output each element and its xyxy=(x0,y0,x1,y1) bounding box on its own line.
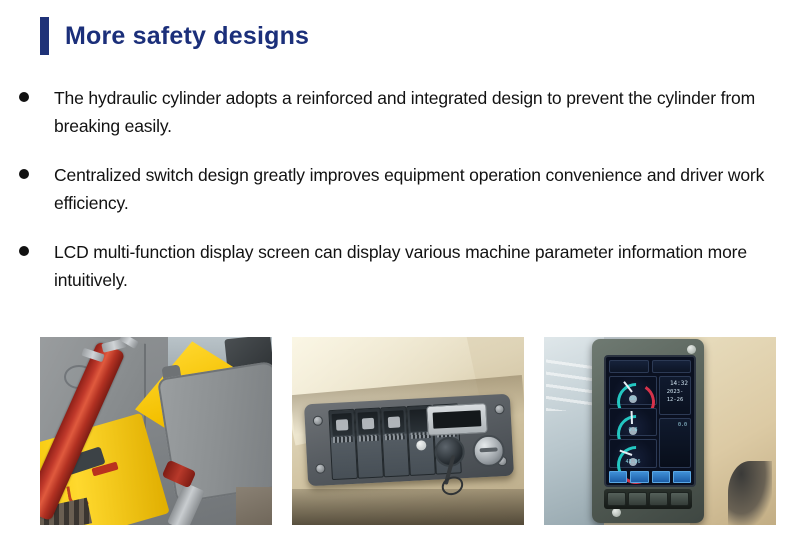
plate-screw xyxy=(315,463,326,474)
dashboard-shadow xyxy=(728,461,772,525)
switch-symbol-icon xyxy=(362,418,375,430)
hardware-key-row xyxy=(604,489,692,509)
photo-strip: 80 0.8 43.96 xyxy=(40,337,776,525)
list-item: The hydraulic cylinder adopts a reinforc… xyxy=(0,84,800,140)
lcd-status-bar xyxy=(609,360,691,373)
lcd-button-row xyxy=(609,471,691,483)
rocker-switch[interactable] xyxy=(354,407,384,478)
hardware-key[interactable] xyxy=(607,492,626,506)
status-segment xyxy=(609,360,649,373)
hydraulic-cylinder-photo xyxy=(40,337,272,525)
gauge-column: 80 0.8 43.96 xyxy=(609,376,657,468)
page-title: More safety designs xyxy=(65,24,309,49)
switch-plate xyxy=(304,394,514,487)
switch-symbol-icon xyxy=(336,419,349,431)
bullet-dot-icon xyxy=(19,169,29,179)
plate-screw xyxy=(313,415,324,426)
list-item: Centralized switch design greatly improv… xyxy=(0,161,800,217)
lower-shadow xyxy=(292,489,524,525)
status-segment xyxy=(652,360,692,373)
list-item-text: LCD multi-function display screen can di… xyxy=(54,238,788,294)
gauge-value: 80 xyxy=(610,396,656,402)
switch-face xyxy=(383,410,404,433)
lcd-function-button[interactable] xyxy=(673,471,691,483)
lcd-function-button[interactable] xyxy=(652,471,670,483)
panel-display-window xyxy=(426,403,487,436)
gauge-dial: 43.96 xyxy=(609,439,657,468)
feature-bullet-list: The hydraulic cylinder adopts a reinforc… xyxy=(0,84,800,315)
ground-patch xyxy=(236,487,272,525)
parameter-value: 0.0 xyxy=(678,422,687,428)
hardware-key[interactable] xyxy=(670,492,689,506)
gauge-dial: 0.8 xyxy=(609,408,657,437)
hardware-key[interactable] xyxy=(628,492,647,506)
list-item: LCD multi-function display screen can di… xyxy=(0,238,800,294)
parameter-panel: 0.0 xyxy=(659,418,691,468)
gauge-value: 43.96 xyxy=(610,459,656,465)
gauge-dial: 80 xyxy=(609,376,657,405)
page-heading: More safety designs xyxy=(40,16,309,56)
switch-grill xyxy=(359,435,379,442)
lcd-screen[interactable]: 80 0.8 43.96 xyxy=(604,355,696,487)
heading-accent-bar xyxy=(40,17,49,55)
switch-face xyxy=(357,412,378,435)
lcd-function-button[interactable] xyxy=(609,471,627,483)
plate-screw xyxy=(494,404,505,415)
hardware-key[interactable] xyxy=(649,492,668,506)
gauge-needle xyxy=(631,411,633,424)
switch-symbol-icon xyxy=(388,416,401,428)
bezel-screw xyxy=(687,345,696,354)
clock-time: 14:32 xyxy=(662,380,688,388)
lcd-function-button[interactable] xyxy=(630,471,648,483)
switch-grill xyxy=(333,436,353,443)
panel-lcd xyxy=(433,410,482,428)
bullet-dot-icon xyxy=(19,92,29,102)
info-column: 14:32 2023-12-26 0.0 xyxy=(659,376,691,468)
list-item-text: Centralized switch design greatly improv… xyxy=(54,161,788,217)
rocker-switch[interactable] xyxy=(380,406,410,477)
slide-page: More safety designs The hydraulic cylind… xyxy=(0,0,800,546)
clock-date: 2023-12-26 xyxy=(662,388,688,404)
lcd-display-photo: 80 0.8 43.96 xyxy=(544,337,776,525)
switch-grill xyxy=(385,433,405,440)
switch-panel-photo xyxy=(292,337,524,525)
gauge-value: 0.8 xyxy=(610,427,656,433)
list-item-text: The hydraulic cylinder adopts a reinforc… xyxy=(54,84,788,140)
switch-face xyxy=(332,413,353,436)
bezel-screw xyxy=(612,508,621,517)
rocker-switch[interactable] xyxy=(328,409,358,480)
clock-panel: 14:32 2023-12-26 xyxy=(659,376,691,415)
bullet-dot-icon xyxy=(19,246,29,256)
